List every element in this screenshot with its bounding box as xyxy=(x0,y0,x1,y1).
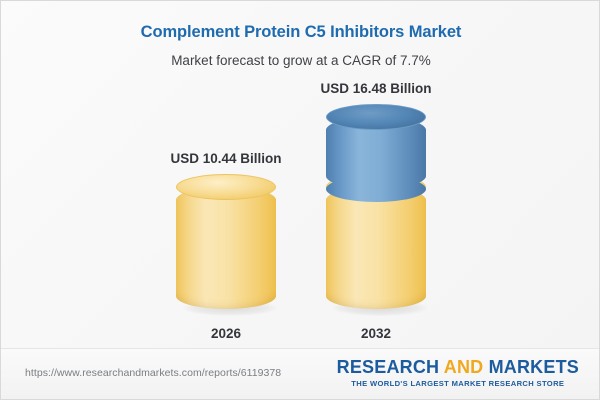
cylinder-segment-base-2026[interactable] xyxy=(176,187,276,309)
cylinder-body xyxy=(326,187,426,309)
category-label-2032: 2032 xyxy=(266,326,486,341)
brand-logo[interactable]: RESEARCH AND MARKETS THE WORLD'S LARGEST… xyxy=(337,357,579,388)
cylinder-top-ellipse xyxy=(176,174,276,200)
brand-word-and: AND xyxy=(444,357,489,377)
brand-word-research: RESEARCH xyxy=(337,357,444,377)
market-infographic: Complement Protein C5 Inhibitors Market … xyxy=(0,0,600,400)
footer-bar: https://www.researchandmarkets.com/repor… xyxy=(1,348,599,399)
cylinder-body xyxy=(176,187,276,309)
brand-tagline: THE WORLD'S LARGEST MARKET RESEARCH STOR… xyxy=(337,379,579,388)
bar-group-2026: USD 10.44 Billion 2026 xyxy=(176,187,276,309)
chart-plot-area: USD 10.44 Billion 2026 USD 16.48 Billion… xyxy=(1,1,600,349)
brand-word-markets: MARKETS xyxy=(489,357,579,377)
bar-value-label-2032: USD 16.48 Billion xyxy=(266,81,486,96)
report-url[interactable]: https://www.researchandmarkets.com/repor… xyxy=(25,367,281,379)
cylinder-segment-growth-2032[interactable] xyxy=(326,117,426,189)
cylinder-top-ellipse xyxy=(326,104,426,130)
bar-group-2032: USD 16.48 Billion 2032 xyxy=(326,117,426,309)
cylinder-segment-base-2032[interactable] xyxy=(326,187,426,309)
bar-value-label-2026: USD 10.44 Billion xyxy=(116,151,336,166)
brand-name: RESEARCH AND MARKETS xyxy=(337,357,579,377)
